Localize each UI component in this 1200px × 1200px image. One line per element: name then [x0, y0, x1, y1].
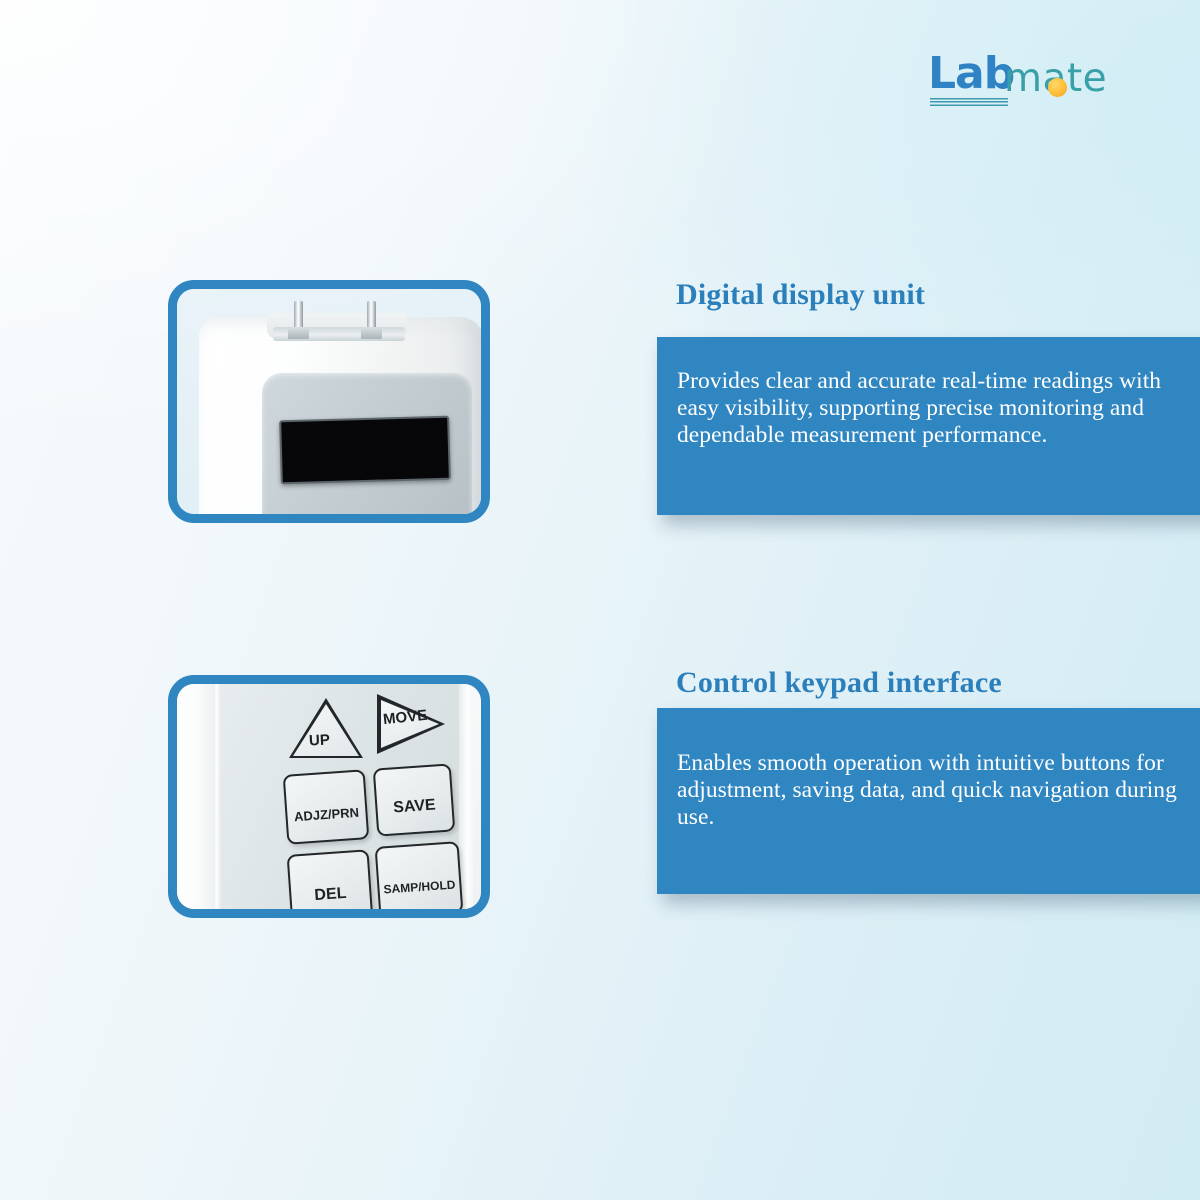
probe-base-right	[361, 327, 382, 339]
device-side-edge	[177, 684, 213, 909]
up-button-label: UP	[309, 731, 331, 749]
feature-description-text-control-keypad-interface: Enables smooth operation with intuitive …	[677, 750, 1177, 831]
del-button-label: DEL	[313, 871, 347, 905]
feature-description-text-digital-display-unit: Provides clear and accurate real-time re…	[677, 368, 1177, 449]
feature-title-control-keypad-interface: Control keypad interface	[676, 666, 1002, 700]
background-glow	[0, 0, 1200, 1200]
labmate-logo: Lab mate	[928, 52, 1098, 110]
feature-description-box-control-keypad-interface: Enables smooth operation with intuitive …	[657, 708, 1200, 894]
samp-hold-button[interactable]: SAMP/HOLD	[375, 841, 464, 909]
digital-display-unit-photo-frame	[168, 280, 490, 523]
logo-lab-text: Lab	[928, 52, 1014, 96]
digital-display-unit-photo	[177, 289, 481, 514]
control-keypad-photo-frame: UP MOVE ADJZ/PRN SAVE DEL SAMP/HOLD	[168, 675, 490, 918]
save-button[interactable]: SAVE	[373, 763, 456, 836]
logo-underline-stripes	[930, 98, 1008, 106]
adjz-prn-button-label: ADJZ/PRN	[293, 790, 360, 823]
adjz-prn-button[interactable]: ADJZ/PRN	[283, 769, 370, 845]
logo-sun-dot-icon	[1048, 78, 1067, 97]
del-button[interactable]: DEL	[287, 849, 374, 909]
device-seam-line	[213, 684, 221, 909]
samp-hold-button-label: SAMP/HOLD	[382, 864, 456, 897]
lcd-screen	[279, 416, 451, 485]
feature-title-digital-display-unit: Digital display unit	[676, 278, 925, 312]
probe-base-left	[288, 327, 309, 339]
control-keypad-photo: UP MOVE ADJZ/PRN SAVE DEL SAMP/HOLD	[177, 684, 481, 909]
save-button-label: SAVE	[392, 783, 437, 818]
keypad-face-highlight	[459, 684, 473, 909]
feature-description-box-digital-display-unit: Provides clear and accurate real-time re…	[657, 337, 1200, 515]
